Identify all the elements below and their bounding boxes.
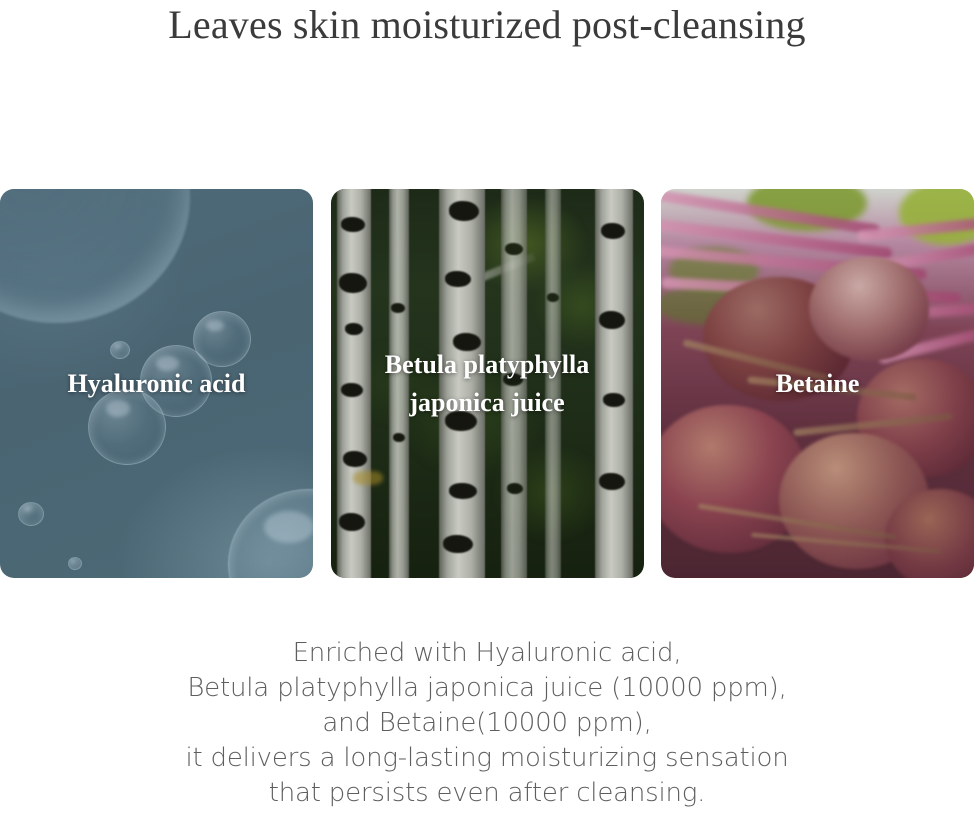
- ingredient-card-betula-platyphylla-japonica-juice[interactable]: Betula platyphylla japonica juice: [331, 189, 644, 578]
- bubble-icon: [18, 502, 44, 526]
- bubble-large-top-icon: [0, 189, 190, 323]
- bubble-large-bottom-icon: [228, 489, 313, 578]
- foliage-highlight: [353, 471, 383, 485]
- ingredient-card-label: Betula platyphylla japonica juice: [375, 346, 599, 422]
- page-title: Leaves skin moisturized post-cleansing: [0, 2, 974, 48]
- birch-trunk: [337, 189, 371, 578]
- ingredient-card-betaine[interactable]: Betaine: [661, 189, 974, 578]
- bubble-icon: [68, 557, 82, 570]
- ingredient-card-label: Betaine: [766, 365, 870, 403]
- ingredient-description: Enriched with Hyaluronic acid, Betula pl…: [0, 636, 974, 811]
- ingredient-card-hyaluronic-acid[interactable]: Hyaluronic acid: [0, 189, 313, 578]
- ingredient-cards-row: Hyaluronic acid: [0, 189, 974, 578]
- birch-trunk: [595, 189, 633, 578]
- bubble-icon: [110, 341, 130, 359]
- ingredient-card-label: Hyaluronic acid: [58, 365, 256, 403]
